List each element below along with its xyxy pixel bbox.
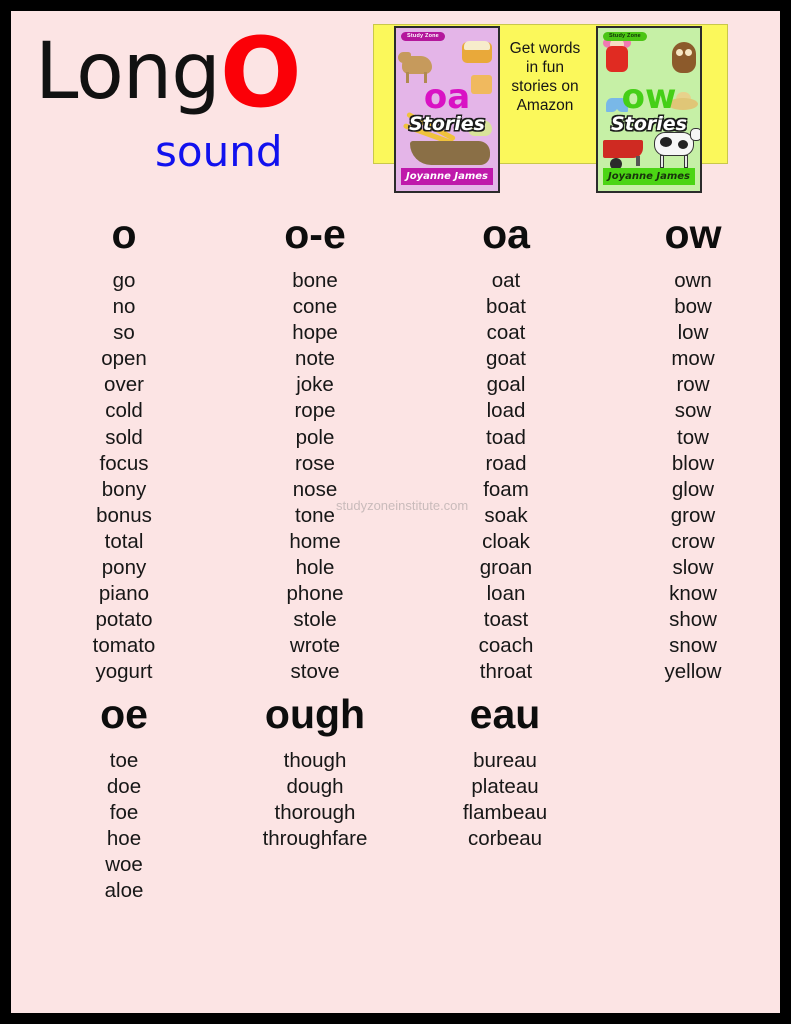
loaf-top-icon: [464, 41, 490, 50]
word-item: though: [236, 748, 394, 774]
page-title: Long O sound: [35, 25, 365, 195]
word-item: low: [624, 320, 762, 346]
word-item: goal: [441, 372, 571, 398]
word-item: cloak: [441, 529, 571, 555]
promo-text-line-1: Get words: [497, 39, 593, 58]
word-item: rope: [251, 398, 379, 424]
word-item: loan: [441, 581, 571, 607]
clown-icon: [606, 46, 628, 72]
goat-head-icon: [398, 52, 411, 63]
word-item: snow: [624, 633, 762, 659]
word-item: hole: [251, 555, 379, 581]
word-item: throughfare: [236, 826, 394, 852]
word-list-eau: bureauplateauflambeaucorbeau: [426, 748, 584, 852]
word-item: boat: [441, 294, 571, 320]
word-item: show: [624, 607, 762, 633]
word-item: over: [58, 372, 190, 398]
word-item: row: [624, 372, 762, 398]
word-item: total: [58, 529, 190, 555]
word-column-o: o gonosoopenovercoldsoldfocusbonybonusto…: [58, 214, 190, 686]
word-item: plateau: [426, 774, 584, 800]
word-item: groan: [441, 555, 571, 581]
word-item: grow: [624, 503, 762, 529]
poster-page: Long O sound Get words in fun stories on…: [11, 11, 780, 1013]
word-list-o: gonosoopenovercoldsoldfocusbonybonustota…: [58, 268, 190, 686]
word-item: open: [58, 346, 190, 372]
cow-spot-icon: [678, 140, 688, 149]
word-item: oat: [441, 268, 571, 294]
word-column-ough: ough thoughdoughthoroughthroughfare: [236, 694, 394, 852]
promo-text-line-2: in fun: [497, 58, 593, 77]
word-item: toe: [58, 748, 190, 774]
word-item: toast: [441, 607, 571, 633]
word-item: hoe: [58, 826, 190, 852]
word-item: stove: [251, 659, 379, 685]
word-item: own: [624, 268, 762, 294]
word-column-eau: eau bureauplateauflambeaucorbeau: [426, 694, 584, 852]
word-list-o-e: boneconehopenotejokeropepolerosenosetone…: [251, 268, 379, 686]
cow-leg-icon: [684, 155, 688, 168]
word-item: cone: [251, 294, 379, 320]
book-title-oa: oa: [396, 80, 498, 114]
word-item: wrote: [251, 633, 379, 659]
word-item: joke: [251, 372, 379, 398]
word-item: bureau: [426, 748, 584, 774]
word-item: coach: [441, 633, 571, 659]
word-item: hope: [251, 320, 379, 346]
book-badge-ow: Study Zone: [603, 32, 647, 41]
owl-eye-icon: [685, 49, 692, 56]
word-item: pony: [58, 555, 190, 581]
word-list-ough: thoughdoughthoroughthroughfare: [236, 748, 394, 852]
word-item: flambeau: [426, 800, 584, 826]
word-item: load: [441, 398, 571, 424]
column-heading-oe: oe: [58, 694, 190, 735]
word-item: blow: [624, 451, 762, 477]
column-heading-o: o: [58, 214, 190, 255]
word-item: yogurt: [58, 659, 190, 685]
word-item: mow: [624, 346, 762, 372]
word-item: dough: [236, 774, 394, 800]
column-heading-oa: oa: [441, 214, 571, 255]
word-item: tomato: [58, 633, 190, 659]
book-subtitle-oa: Stories: [396, 113, 498, 135]
poster-frame: Long O sound Get words in fun stories on…: [0, 0, 791, 1024]
word-item: glow: [624, 477, 762, 503]
word-item: slow: [624, 555, 762, 581]
word-item: thorough: [236, 800, 394, 826]
word-item: potato: [58, 607, 190, 633]
word-item: doe: [58, 774, 190, 800]
column-heading-eau: eau: [426, 694, 584, 735]
column-heading-ow: ow: [624, 214, 762, 255]
word-item: coat: [441, 320, 571, 346]
word-item: so: [58, 320, 190, 346]
title-main-text: Long: [35, 33, 220, 111]
word-item: foe: [58, 800, 190, 826]
word-item: bony: [58, 477, 190, 503]
word-column-oa: oa oatboatcoatgoatgoalloadtoadroadfoamso…: [441, 214, 571, 686]
word-item: corbeau: [426, 826, 584, 852]
word-item: bonus: [58, 503, 190, 529]
word-item: pole: [251, 425, 379, 451]
word-column-o-e: o-e boneconehopenotejokeropepolerosenose…: [251, 214, 379, 686]
word-item: crow: [624, 529, 762, 555]
book-cover-ow[interactable]: Study Zone ow Stories Joyanne James: [596, 26, 702, 193]
word-item: note: [251, 346, 379, 372]
book-author-oa: Joyanne James: [401, 168, 493, 185]
word-item: woe: [58, 852, 190, 878]
word-item: phone: [251, 581, 379, 607]
book-title-ow: ow: [598, 80, 700, 114]
title-highlight-letter: O: [220, 25, 302, 121]
word-item: bow: [624, 294, 762, 320]
word-column-ow: ow ownbowlowmowrowsowtowblowglowgrowcrow…: [624, 214, 762, 686]
word-item: rose: [251, 451, 379, 477]
word-item: toad: [441, 425, 571, 451]
column-heading-ough: ough: [236, 694, 394, 735]
word-item: home: [251, 529, 379, 555]
wheelbarrow-leg-icon: [636, 156, 640, 166]
word-item: sow: [624, 398, 762, 424]
word-list-ow: ownbowlowmowrowsowtowblowglowgrowcrowslo…: [624, 268, 762, 686]
book-cover-oa[interactable]: Study Zone oa Stories Joyanne James: [394, 26, 500, 193]
word-item: piano: [58, 581, 190, 607]
book-author-ow: Joyanne James: [603, 168, 695, 185]
owl-eye-icon: [676, 49, 683, 56]
word-item: yellow: [624, 659, 762, 685]
word-item: go: [58, 268, 190, 294]
word-item: know: [624, 581, 762, 607]
word-item: stole: [251, 607, 379, 633]
promo-text: Get words in fun stories on Amazon: [497, 39, 593, 115]
column-heading-o-e: o-e: [251, 214, 379, 255]
word-list-oe: toedoefoehoewoealoe: [58, 748, 190, 905]
word-item: cold: [58, 398, 190, 424]
cow-spot-icon: [660, 137, 672, 147]
word-item: tow: [624, 425, 762, 451]
promo-text-line-4: Amazon: [497, 96, 593, 115]
owl-icon: [672, 42, 696, 73]
word-list-oa: oatboatcoatgoatgoalloadtoadroadfoamsoakc…: [441, 268, 571, 686]
word-item: aloe: [58, 878, 190, 904]
promo-text-line-3: stories on: [497, 77, 593, 96]
word-item: road: [441, 451, 571, 477]
watermark: studyzoneinstitute.com: [336, 498, 468, 513]
word-column-oe: oe toedoefoehoewoealoe: [58, 694, 190, 905]
word-item: goat: [441, 346, 571, 372]
word-item: focus: [58, 451, 190, 477]
word-item: sold: [58, 425, 190, 451]
boat-icon: [410, 141, 490, 165]
word-item: bone: [251, 268, 379, 294]
book-subtitle-ow: Stories: [598, 113, 700, 135]
promo-section: Get words in fun stories on Amazon Study…: [362, 13, 728, 203]
title-subtitle: sound: [155, 131, 282, 173]
cow-leg-icon: [660, 155, 664, 168]
book-badge-oa: Study Zone: [401, 32, 445, 41]
word-item: no: [58, 294, 190, 320]
word-item: throat: [441, 659, 571, 685]
